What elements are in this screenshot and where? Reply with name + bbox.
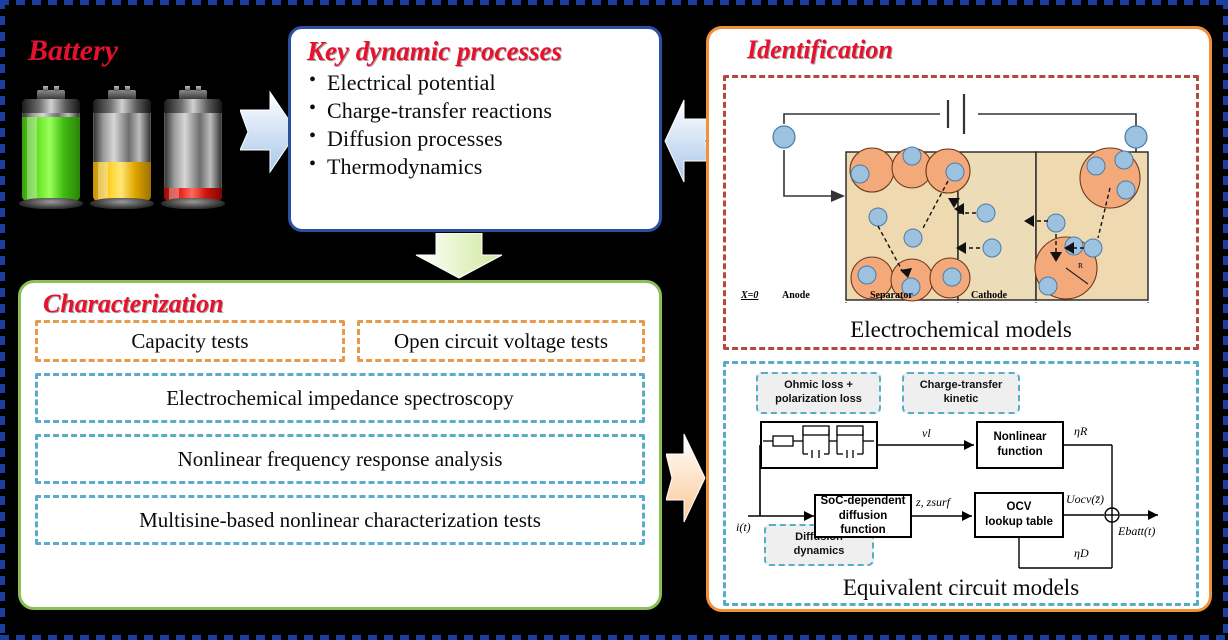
battery-base <box>90 198 154 209</box>
battery-icon-low <box>164 97 222 209</box>
separator-label: Separator <box>870 290 913 301</box>
battery-collar <box>93 99 151 113</box>
input-current-label: i(t) <box>736 520 751 535</box>
battery-body <box>22 99 80 201</box>
battery-body <box>93 99 151 201</box>
eis-label: Electrochemical impedance spectroscopy <box>166 388 514 409</box>
ocv-output-label: Uocv(z̄) <box>1066 492 1104 507</box>
battery-body <box>164 99 222 201</box>
electrochemical-models-caption: Electrochemical models <box>726 317 1196 343</box>
cell-schematic-svg: L L L R <box>726 78 1196 303</box>
battery-icon-medium <box>93 97 151 209</box>
equivalent-circuit-models-box: Ohmic loss + polarization loss Charge-tr… <box>723 361 1199 606</box>
multisine-label: Multisine-based nonlinear characterizati… <box>139 510 541 531</box>
eis-box: Electrochemical impedance spectroscopy <box>35 373 645 423</box>
key-dynamic-processes-panel: Key dynamic processes Electrical potenti… <box>288 26 662 232</box>
characterization-top-row: Capacity tests Open circuit voltage test… <box>35 320 645 362</box>
equivalent-circuit-models-caption: Equivalent circuit models <box>726 575 1196 601</box>
battery-icon-full <box>22 97 80 209</box>
electrochemical-models-box: L L L R X=0 Anode Separator Cathode Elec… <box>723 75 1199 350</box>
list-item: Charge-transfer reactions <box>305 97 647 125</box>
cathode-label: Cathode <box>971 290 1007 301</box>
battery-base <box>19 198 83 209</box>
eta-d-label: ηD <box>1074 546 1089 561</box>
battery-cap <box>108 90 136 99</box>
list-item: Electrical potential <box>305 69 647 97</box>
battery-base <box>161 198 225 209</box>
battery-fill <box>93 162 151 201</box>
ecm-wiring-svg <box>726 364 1196 604</box>
battery-group: Battery <box>14 28 249 213</box>
ocv-tests-label: Open circuit voltage tests <box>394 331 608 352</box>
battery-collar <box>22 99 80 113</box>
figure-canvas: Battery <box>0 0 1228 640</box>
battery-title: Battery <box>28 34 118 68</box>
arrow-down-green-icon <box>412 233 506 279</box>
vl-label: vl <box>922 426 931 441</box>
battery-cap <box>179 90 207 99</box>
eta-r-label: ηR <box>1074 424 1087 439</box>
arrow-left-blue-icon <box>664 95 712 187</box>
ocv-tests-box: Open circuit voltage tests <box>357 320 645 362</box>
nfra-box: Nonlinear frequency response analysis <box>35 434 645 484</box>
soc-states-label: z, zsurf <box>916 495 950 510</box>
origin-label: X=0 <box>741 290 758 301</box>
battery-collar <box>164 99 222 113</box>
identification-title: Identification <box>747 35 1199 65</box>
characterization-title: Characterization <box>43 289 645 319</box>
battery-voltage-label: Ebatt(t) <box>1118 524 1155 539</box>
key-dynamic-processes-title: Key dynamic processes <box>307 36 647 67</box>
nfra-label: Nonlinear frequency response analysis <box>178 449 503 470</box>
anode-label: Anode <box>782 290 810 301</box>
identification-panel: Identification <box>706 26 1212 612</box>
list-item: Thermodynamics <box>305 153 647 181</box>
battery-fill <box>22 117 80 201</box>
capacity-tests-label: Capacity tests <box>131 331 248 352</box>
characterization-panel: Characterization Capacity tests Open cir… <box>18 280 662 610</box>
particle-radius-label: R <box>1078 261 1083 270</box>
battery-cap <box>37 90 65 99</box>
arrow-right-peach-icon <box>666 430 706 526</box>
multisine-box: Multisine-based nonlinear characterizati… <box>35 495 645 545</box>
capacity-tests-box: Capacity tests <box>35 320 345 362</box>
list-item: Diffusion processes <box>305 125 647 153</box>
cell-region-labels: X=0 Anode Separator Cathode <box>726 290 1196 308</box>
key-dynamic-processes-list: Electrical potential Charge-transfer rea… <box>305 69 647 182</box>
